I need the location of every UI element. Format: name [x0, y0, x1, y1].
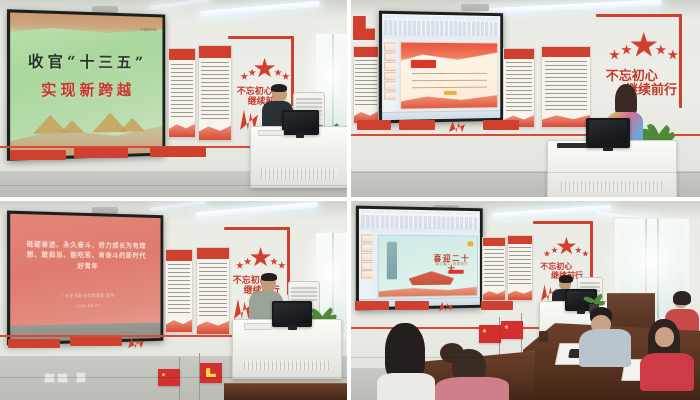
star-icon-small — [248, 69, 256, 77]
board-footer-graphic — [166, 314, 192, 332]
monitor-stand — [603, 147, 613, 151]
wall-red-panel — [481, 301, 513, 310]
wall-display-board — [198, 45, 232, 141]
star-icon-large — [250, 247, 272, 268]
classroom-scene: 中国政府网 收官“十三五” 实现新跨越 — [0, 0, 347, 197]
floor-shadow — [351, 357, 531, 358]
attendee-head — [655, 327, 674, 347]
board-footer-graphic — [199, 119, 231, 140]
attendee-front-center — [435, 343, 511, 400]
board-header — [542, 47, 590, 57]
ppt-slide-stage — [396, 38, 501, 112]
slide-content: 喜迎二十大 凝心聚力 砥砺前行 — [377, 234, 477, 298]
screen-surface: 砥砺奋进、永久奋斗，努力成长为有理想、敢担当、能吃苦、肯奋斗的新时代好青年 广东… — [10, 214, 160, 342]
star-icon-small — [609, 49, 620, 60]
china-flag-second — [501, 321, 523, 339]
classroom-scene: 不忘初心 继续前行 — [351, 0, 700, 197]
wall-red-panel — [395, 301, 429, 310]
slide-footer-line1: 广东艺术职业学院党委 宣传 — [23, 292, 149, 299]
wall-red-panel — [74, 148, 128, 158]
slide-gold-accent — [444, 91, 456, 96]
slide-title-line1: 收官“十三五” — [18, 50, 155, 72]
board-header — [483, 238, 505, 246]
attendee-hair — [673, 291, 691, 305]
wall-red-panel — [355, 301, 389, 310]
board-header — [169, 49, 195, 60]
star-icon-small — [236, 261, 244, 269]
wall-red-accent-vertical — [590, 221, 593, 283]
screen-mount — [461, 4, 489, 11]
ppt-thumbnail — [361, 235, 374, 243]
star-icon-small — [582, 250, 589, 257]
attendee-torso — [640, 353, 694, 391]
slide-subtitle: 凝心聚力 砥砺前行 — [433, 262, 472, 267]
star-icon-small — [655, 44, 666, 55]
board-text-lines — [171, 64, 194, 119]
board-header — [166, 250, 192, 261]
board-text-lines — [168, 264, 191, 315]
ppt-slide-thumbnails — [382, 38, 397, 113]
wall-display-board — [507, 235, 533, 301]
screen-surface: 中国政府网 收官“十三五” 实现新跨越 — [10, 12, 162, 157]
star-icon-small — [274, 69, 282, 77]
wall-display-board — [353, 46, 379, 124]
presenter-hair — [261, 273, 277, 281]
wall-display-board — [165, 249, 193, 333]
slide-main-text: 砥砺奋进、永久奋斗，努力成长为有理想、敢担当、能吃苦、肯奋斗的新时代好青年 — [23, 240, 149, 272]
wall-red-panel — [357, 120, 391, 130]
operator-hair — [559, 275, 573, 283]
star-icon-small — [278, 261, 286, 269]
powerpoint-window: 喜迎二十大 凝心聚力 砥砺前行 — [359, 209, 480, 308]
ppt-status-bar — [382, 110, 500, 120]
star-icon-small — [621, 44, 632, 55]
mountain-shape — [119, 118, 145, 132]
monitor-stand — [296, 134, 304, 138]
monitor — [586, 118, 630, 148]
star-icon-small — [575, 247, 582, 254]
ppt-thumbnail — [384, 52, 396, 61]
ppt-thumbnail — [361, 262, 374, 270]
slide-body-text-lines — [412, 73, 487, 90]
board-text-lines — [484, 249, 503, 287]
ppt-ribbon — [382, 14, 500, 41]
attendee-torso — [377, 373, 435, 400]
ppt-thumbnail — [361, 271, 374, 279]
wall-red-panel — [70, 337, 122, 346]
podium-vent — [244, 361, 330, 370]
board-header — [508, 236, 532, 244]
presenter-hair — [271, 84, 287, 92]
board-header — [504, 49, 534, 59]
star-icon-small — [270, 258, 278, 266]
photo-panel-bottom-left[interactable]: 砥砺奋进、永久奋斗，努力成长为有理想、敢担当、能吃苦、肯奋斗的新时代好青年 广东… — [0, 201, 347, 400]
floor-shadow — [0, 377, 347, 378]
slide-corner-tag: 中国政府网 — [140, 28, 156, 32]
board-footer-graphic — [483, 286, 505, 300]
wall-red-accent — [596, 14, 682, 17]
photo-panel-bottom-right[interactable]: 喜迎二十大 凝心聚力 砥砺前行 — [351, 201, 700, 400]
wall-red-accent — [224, 227, 290, 230]
star-icon-small — [240, 72, 248, 80]
slide-title-line2: 实现新跨越 — [18, 79, 155, 101]
ppt-thumbnail — [361, 253, 374, 261]
ppt-thumbnail — [384, 81, 396, 90]
slide-tag-box — [411, 60, 437, 68]
ppt-thumbnail — [384, 91, 396, 100]
china-flag — [479, 325, 501, 343]
slide-top-band — [10, 12, 162, 39]
photo-panel-top-right[interactable]: 不忘初心 继续前行 — [351, 0, 700, 197]
board-header — [197, 248, 229, 259]
star-icon-small — [667, 49, 678, 60]
wall-display-board — [196, 247, 230, 335]
slide-badge-graphic — [467, 241, 473, 246]
ppt-slide-thumbnails — [359, 231, 374, 300]
board-footer-graphic — [197, 315, 229, 334]
star-icon-large — [556, 237, 576, 256]
cup — [539, 331, 548, 342]
party-flag — [200, 363, 222, 383]
wall-red-panel — [483, 120, 519, 130]
board-header — [199, 46, 231, 58]
screen-surface: 喜迎二十大 凝心聚力 砥砺前行 — [359, 209, 480, 308]
floor-shadow — [0, 185, 347, 186]
wall-red-accent-vertical — [679, 14, 682, 108]
wall-red-panel — [8, 339, 60, 348]
podium-vent — [261, 169, 338, 179]
star-icon-large — [254, 58, 276, 79]
star-icon-small — [282, 72, 290, 80]
monitor-stand — [288, 326, 297, 330]
ppt-thumbnail — [384, 62, 396, 71]
meeting-room-scene: 喜迎二十大 凝心聚力 砥砺前行 — [351, 201, 700, 400]
board-text-lines — [201, 62, 229, 120]
slide-footer-line2: 2022.06.29 — [23, 302, 149, 310]
wall-red-accent — [533, 221, 593, 224]
projector-screen: 喜迎二十大 凝心聚力 砥砺前行 — [356, 206, 483, 311]
wall-red-panel — [150, 147, 206, 157]
screen-surface — [382, 14, 500, 120]
keyboard — [244, 323, 272, 330]
ppt-thumbnail — [361, 244, 374, 252]
projector-screen: 中国政府网 收官“十三五” 实现新跨越 — [7, 9, 165, 161]
projector-screen — [379, 11, 503, 124]
monitor — [282, 110, 319, 135]
attendee-torso — [579, 329, 631, 367]
attendee-front-left — [377, 323, 435, 400]
wall-display-board — [541, 46, 591, 128]
slide-button-graphic — [448, 269, 463, 273]
wall-red-panel — [399, 120, 435, 130]
slide-content: 中国政府网 收官“十三五” 实现新跨越 — [10, 12, 162, 157]
board-footer-graphic — [542, 109, 590, 127]
star-icon-small — [551, 247, 558, 254]
wall-display-board — [168, 48, 196, 138]
monument-illustration — [387, 242, 397, 280]
keyboard — [258, 130, 284, 136]
ppt-slide-stage: 喜迎二十大 凝心聚力 砥砺前行 — [373, 232, 480, 301]
attendee-torso — [435, 377, 509, 400]
board-text-lines — [545, 61, 587, 111]
podium-vent — [561, 182, 663, 191]
floor-shadow — [351, 172, 700, 173]
board-header — [354, 47, 378, 57]
wall-socket — [44, 373, 55, 383]
star-icon-small — [244, 258, 252, 266]
photo-collage: 中国政府网 收官“十三五” 实现新跨越 — [0, 0, 700, 400]
attendee-writing-right — [575, 307, 637, 373]
slide-ground-graphic — [378, 285, 476, 297]
wall-socket — [57, 373, 68, 383]
board-footer-graphic — [169, 118, 195, 137]
ppt-thumbnail — [384, 43, 396, 52]
ppt-tool-group — [385, 20, 498, 36]
wall-red-panel — [10, 150, 66, 160]
board-footer-graphic — [508, 286, 532, 300]
star-icon-small — [543, 250, 550, 257]
keyboard — [557, 143, 587, 148]
ppt-tool-group — [362, 215, 478, 230]
ppt-thumbnail — [384, 72, 396, 81]
conference-table — [224, 383, 347, 400]
monitor — [272, 301, 312, 327]
classroom-scene: 砥砺奋进、永久奋斗，努力成长为有理想、敢担当、能吃苦、肯奋斗的新时代好青年 广东… — [0, 201, 347, 400]
wall-display-board — [482, 237, 506, 301]
star-icon-large — [630, 32, 658, 59]
ppt-ribbon — [359, 209, 480, 234]
board-text-lines — [509, 247, 530, 287]
powerpoint-window — [382, 14, 500, 120]
board-text-lines — [355, 60, 376, 107]
slide-content — [400, 41, 498, 110]
wall-red-accent — [228, 36, 294, 39]
projector-screen: 砥砺奋进、永久奋斗，努力成长为有理想、敢担当、能吃苦、肯奋斗的新时代好青年 广东… — [7, 211, 163, 346]
attendee-writing-far-right — [639, 319, 697, 391]
board-text-lines — [199, 263, 227, 316]
wall-display-board — [503, 48, 535, 128]
photo-panel-top-left[interactable]: 中国政府网 收官“十三五” 实现新跨越 — [0, 0, 347, 197]
board-text-lines — [506, 62, 532, 110]
